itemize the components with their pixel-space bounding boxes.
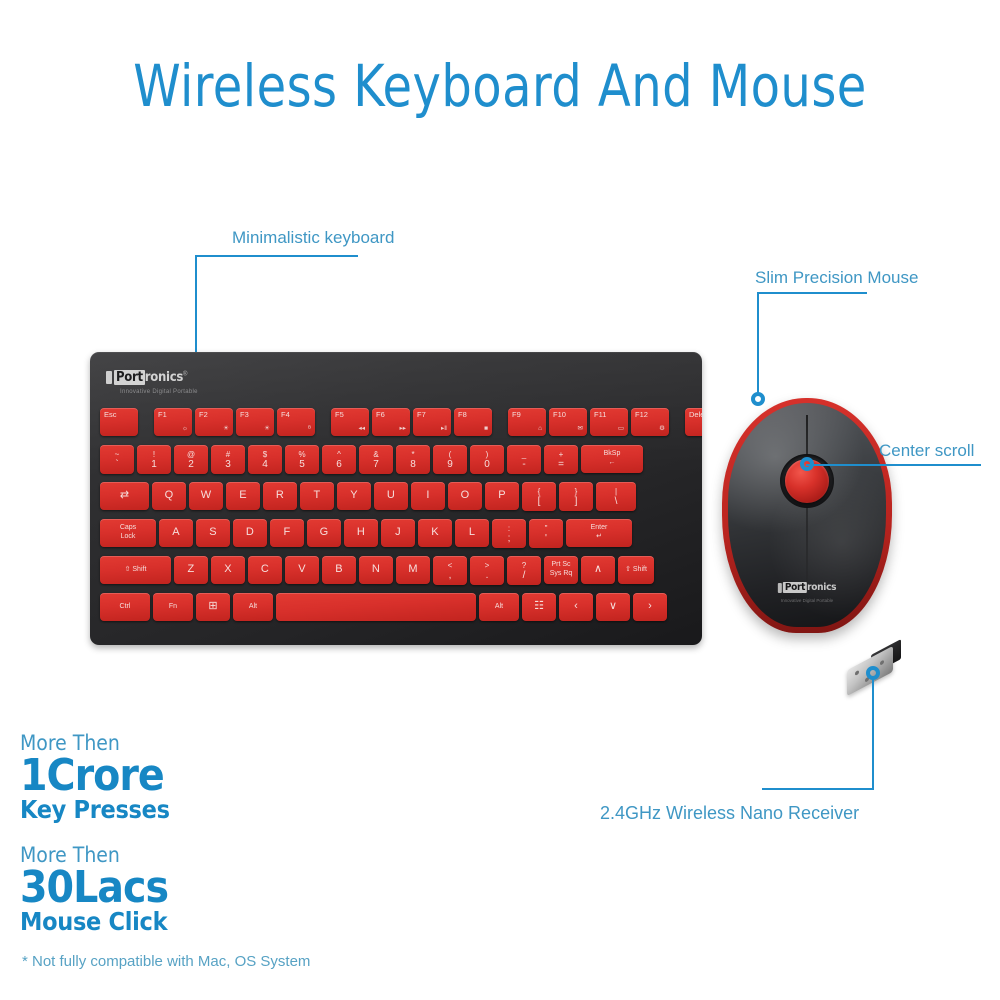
key-legend-top: * bbox=[411, 451, 414, 459]
key-s[interactable]: S bbox=[196, 519, 230, 547]
key-legend-line1: Enter bbox=[591, 524, 608, 533]
callout-label-receiver: 2.4GHz Wireless Nano Receiver bbox=[600, 803, 859, 824]
key-legend-bottom: \ bbox=[615, 497, 618, 507]
key-legend: F7 bbox=[417, 411, 426, 419]
key-legend: J bbox=[395, 527, 401, 539]
key-b[interactable]: B bbox=[322, 556, 356, 584]
leader-line-mouse-horizontal bbox=[757, 292, 867, 294]
key-legend: X bbox=[224, 564, 232, 576]
key-legend: Esc bbox=[104, 411, 117, 419]
key-0[interactable]: )0 bbox=[470, 445, 504, 474]
key-legend: F5 bbox=[335, 411, 344, 419]
key-legend: F8 bbox=[458, 411, 467, 419]
key-r[interactable]: R bbox=[263, 482, 297, 510]
key-legend: U bbox=[387, 490, 395, 502]
brand-tagline: Innovative Digital Portable bbox=[120, 389, 198, 395]
key-blank[interactable]: ⇄ bbox=[100, 482, 149, 510]
key-x[interactable]: X bbox=[211, 556, 245, 584]
key-legend-top: < bbox=[448, 562, 453, 570]
keyboard-row-shift-row: ⇧ ShiftZXCVBNM<,>.?/Prt ScSys Rq∧⇧ Shift bbox=[100, 556, 654, 585]
key-f5[interactable]: F5◂◂ bbox=[331, 408, 369, 436]
key-blank[interactable]: ‹ bbox=[559, 593, 593, 621]
key-g[interactable]: G bbox=[307, 519, 341, 547]
brand-name-part2: ronics bbox=[145, 370, 183, 385]
key-legend-bottom: 5 bbox=[299, 460, 305, 470]
key-d[interactable]: D bbox=[233, 519, 267, 547]
key-alt[interactable]: Alt bbox=[233, 593, 273, 621]
keyboard-device[interactable]: Portronics® Innovative Digital Portable … bbox=[90, 352, 702, 645]
key-f9[interactable]: F9⌂ bbox=[508, 408, 546, 436]
key-bksp[interactable]: BkSp← bbox=[581, 445, 643, 473]
key-legend: ⇧ Shift bbox=[125, 566, 147, 573]
key-9[interactable]: (9 bbox=[433, 445, 467, 474]
key-legend-bottom: / bbox=[523, 571, 526, 581]
key-spacer bbox=[495, 408, 505, 436]
fn-media-icon: ☼ bbox=[182, 426, 188, 433]
key-legend: F12 bbox=[635, 411, 648, 419]
key-glyph-icon: ☷ bbox=[534, 601, 544, 613]
mouse-brand-name-part2: ronics bbox=[807, 582, 836, 593]
key-legend-top: ( bbox=[449, 451, 452, 459]
leader-line-keyboard-horizontal bbox=[195, 255, 358, 257]
key-blank[interactable]: }] bbox=[559, 482, 593, 511]
key-legend: S bbox=[209, 527, 217, 539]
key-o[interactable]: O bbox=[448, 482, 482, 510]
key-spacer bbox=[672, 408, 682, 436]
mouse-brand-mark-icon bbox=[778, 583, 782, 593]
key-legend-bottom: [ bbox=[538, 497, 541, 507]
key-legend: B bbox=[335, 564, 343, 576]
key-legend-top: ~ bbox=[115, 451, 120, 459]
key-legend-bottom: , bbox=[449, 571, 452, 581]
key-legend-top: { bbox=[538, 488, 541, 496]
key-space[interactable] bbox=[276, 593, 476, 621]
key-a[interactable]: A bbox=[159, 519, 193, 547]
key-caps[interactable]: CapsLock bbox=[100, 519, 156, 547]
key-shift[interactable]: ⇧ Shift bbox=[618, 556, 654, 584]
key-legend: L bbox=[469, 527, 475, 539]
key-legend: F10 bbox=[553, 411, 566, 419]
key-legend: Fn bbox=[169, 603, 177, 610]
key-legend: T bbox=[314, 490, 321, 502]
key-legend-top: " bbox=[545, 525, 548, 533]
key-f10[interactable]: F10✉ bbox=[549, 408, 587, 436]
key-legend-line1: Prt Sc bbox=[551, 561, 570, 570]
key-legend: H bbox=[357, 527, 365, 539]
key-l[interactable]: L bbox=[455, 519, 489, 547]
key-glyph-icon: ∨ bbox=[609, 601, 617, 613]
key-legend-line1: Caps bbox=[120, 524, 136, 533]
key-legend-bottom: ] bbox=[575, 497, 578, 507]
key-legend: V bbox=[298, 564, 306, 576]
key-legend-top: ^ bbox=[337, 451, 341, 459]
key-legend: C bbox=[261, 564, 269, 576]
stat-block-key-presses: More Then 1Crore Key Presses bbox=[20, 733, 170, 823]
key-legend: Z bbox=[188, 564, 195, 576]
key-legend-top: % bbox=[298, 451, 305, 459]
key-blank[interactable]: ∨ bbox=[596, 593, 630, 621]
key-blank[interactable]: ~` bbox=[100, 445, 134, 474]
key-alt[interactable]: Alt bbox=[479, 593, 519, 621]
key-delete[interactable]: Delete bbox=[685, 408, 702, 436]
fn-media-icon: ◂◂ bbox=[358, 426, 365, 433]
key-f11[interactable]: F11▭ bbox=[590, 408, 628, 436]
key-legend-bottom: 6 bbox=[336, 460, 342, 470]
key-spacer bbox=[318, 408, 328, 436]
page-title: Wireless Keyboard And Mouse bbox=[40, 52, 960, 120]
key-f1[interactable]: F1☼ bbox=[154, 408, 192, 436]
key-legend-bottom: ; bbox=[508, 534, 511, 544]
key-esc[interactable]: Esc bbox=[100, 408, 138, 436]
key-legend: G bbox=[320, 527, 329, 539]
key-f3[interactable]: F3☀ bbox=[236, 408, 274, 436]
key-blank[interactable]: |\ bbox=[596, 482, 636, 511]
key-blank[interactable]: "' bbox=[529, 519, 563, 548]
fn-media-icon: ⚙ bbox=[659, 426, 665, 433]
key-legend: O bbox=[461, 490, 470, 502]
key-legend-top: & bbox=[373, 451, 378, 459]
key-legend: A bbox=[172, 527, 180, 539]
key-blank[interactable]: ?/ bbox=[507, 556, 541, 585]
key-legend: N bbox=[372, 564, 380, 576]
key-f12[interactable]: F12⚙ bbox=[631, 408, 669, 436]
key-legend-top: ! bbox=[153, 451, 155, 459]
key-legend: Alt bbox=[495, 603, 503, 610]
key-enter[interactable]: Enter↵ bbox=[566, 519, 632, 547]
key-legend: ⇧ Shift bbox=[625, 566, 647, 573]
key-blank[interactable]: ⊞ bbox=[196, 593, 230, 621]
key-legend: Q bbox=[165, 490, 174, 502]
key-legend-top: # bbox=[226, 451, 230, 459]
key-legend: R bbox=[276, 490, 284, 502]
key-legend: E bbox=[239, 490, 247, 502]
key-legend-top: $ bbox=[263, 451, 267, 459]
key-legend-line2: ↵ bbox=[596, 533, 602, 542]
callout-label-scroll: Center scroll bbox=[879, 441, 974, 461]
keyboard-row-function-row: EscF1☼F2☀F3☀F4ᴮF5◂◂F6▸▸F7▸‖F8■F9⌂F10✉F11… bbox=[100, 408, 702, 436]
infographic-canvas: Wireless Keyboard And Mouse Minimalistic… bbox=[0, 0, 1000, 1000]
key-4[interactable]: $4 bbox=[248, 445, 282, 474]
key-legend: F4 bbox=[281, 411, 290, 419]
callout-label-keyboard: Minimalistic keyboard bbox=[232, 228, 395, 248]
footnote-text: * Not fully compatible with Mac, OS Syst… bbox=[22, 953, 310, 970]
key-legend-bottom: ` bbox=[115, 460, 118, 470]
stat-caption: Mouse Click bbox=[20, 909, 168, 935]
key-legend: K bbox=[431, 527, 439, 539]
key-legend-bottom: 9 bbox=[447, 460, 453, 470]
key-c[interactable]: C bbox=[248, 556, 282, 584]
mouse-device[interactable]: Portronics Innovative Digital Portable bbox=[722, 398, 892, 633]
keyboard-row-number-row: ~`!1@2#3$4%5^6&7*8(9)0_-+=BkSp← bbox=[100, 445, 643, 474]
usb-detail-dot-2 bbox=[880, 660, 884, 666]
key-blank[interactable]: _- bbox=[507, 445, 541, 474]
key-i[interactable]: I bbox=[411, 482, 445, 510]
key-f4[interactable]: F4ᴮ bbox=[277, 408, 315, 436]
key-legend: F2 bbox=[199, 411, 208, 419]
key-legend: Y bbox=[350, 490, 358, 502]
key-legend-top: : bbox=[508, 525, 510, 533]
key-legend-bottom: 2 bbox=[188, 460, 194, 470]
key-glyph-icon: ⊞ bbox=[208, 601, 217, 613]
key-legend-top: } bbox=[575, 488, 578, 496]
key-3[interactable]: #3 bbox=[211, 445, 245, 474]
key-legend-bottom: 3 bbox=[225, 460, 231, 470]
key-legend-bottom: 1 bbox=[151, 460, 157, 470]
key-legend-top: _ bbox=[522, 451, 526, 459]
key-legend-line2: Lock bbox=[121, 533, 136, 542]
key-glyph-icon: › bbox=[648, 601, 652, 613]
key-spacer bbox=[141, 408, 151, 436]
key-legend: D bbox=[246, 527, 254, 539]
stat-value: 30Lacs bbox=[20, 867, 168, 909]
key-fn[interactable]: Fn bbox=[153, 593, 193, 621]
key-legend-bottom: ' bbox=[545, 534, 547, 544]
stat-block-mouse-clicks: More Then 30Lacs Mouse Click bbox=[20, 845, 168, 935]
stat-caption: Key Presses bbox=[20, 797, 170, 823]
key-legend: Ctrl bbox=[120, 603, 131, 610]
leader-line-keyboard-vertical bbox=[195, 255, 197, 365]
key-y[interactable]: Y bbox=[337, 482, 371, 510]
key-legend: F bbox=[284, 527, 291, 539]
key-q[interactable]: Q bbox=[152, 482, 186, 510]
keyboard-row-qwerty-row: ⇄QWERTYUIOP{[}]|\ bbox=[100, 482, 636, 511]
key-legend: F11 bbox=[594, 411, 606, 419]
key-legend: I bbox=[426, 490, 429, 502]
key-e[interactable]: E bbox=[226, 482, 260, 510]
fn-media-icon: ☀ bbox=[264, 426, 270, 433]
key-legend-line2: Sys Rq bbox=[550, 570, 573, 579]
key-legend-top: + bbox=[559, 451, 564, 459]
key-shift[interactable]: ⇧ Shift bbox=[100, 556, 171, 584]
brand-registered-mark: ® bbox=[183, 372, 187, 378]
key-blank[interactable]: <, bbox=[433, 556, 467, 585]
key-z[interactable]: Z bbox=[174, 556, 208, 584]
key-legend-line2: ← bbox=[609, 459, 616, 468]
key-legend-bottom: 0 bbox=[484, 460, 490, 470]
key-legend-line1: BkSp bbox=[604, 450, 621, 459]
fn-media-icon: ᴮ bbox=[308, 426, 311, 433]
usb-detail-dot-1 bbox=[855, 670, 859, 676]
key-legend: Alt bbox=[249, 603, 257, 610]
key-h[interactable]: H bbox=[344, 519, 378, 547]
key-legend: F3 bbox=[240, 411, 249, 419]
key-f8[interactable]: F8■ bbox=[454, 408, 492, 436]
keyboard-brand-logo: Portronics® Innovative Digital Portable bbox=[106, 369, 198, 395]
key-glyph-icon: ‹ bbox=[574, 601, 578, 613]
key-legend-bottom: . bbox=[486, 571, 489, 581]
key-legend: F6 bbox=[376, 411, 385, 419]
key-blank[interactable]: += bbox=[544, 445, 578, 474]
key-glyph-icon: ⇄ bbox=[120, 490, 129, 502]
leader-line-receiver-horizontal bbox=[762, 788, 874, 790]
key-t[interactable]: T bbox=[300, 482, 334, 510]
key-f6[interactable]: F6▸▸ bbox=[372, 408, 410, 436]
fn-media-icon: ⌂ bbox=[538, 426, 542, 433]
fn-media-icon: ☀ bbox=[223, 426, 229, 433]
key-f7[interactable]: F7▸‖ bbox=[413, 408, 451, 436]
brand-name-part1: Port bbox=[114, 370, 145, 385]
key-legend-top: @ bbox=[187, 451, 195, 459]
key-ctrl[interactable]: Ctrl bbox=[100, 593, 150, 621]
key-f[interactable]: F bbox=[270, 519, 304, 547]
key-n[interactable]: N bbox=[359, 556, 393, 584]
key-blank[interactable]: {[ bbox=[522, 482, 556, 511]
key-f2[interactable]: F2☀ bbox=[195, 408, 233, 436]
keyboard-row-bottom-row: CtrlFn⊞AltAlt☷‹∨› bbox=[100, 593, 667, 621]
key-prt-sc[interactable]: Prt ScSys Rq bbox=[544, 556, 578, 584]
key-blank[interactable]: :; bbox=[492, 519, 526, 548]
fn-media-icon: ✉ bbox=[578, 426, 583, 433]
key-1[interactable]: !1 bbox=[137, 445, 171, 474]
callout-label-mouse: Slim Precision Mouse bbox=[755, 268, 918, 288]
stat-value: 1Crore bbox=[20, 755, 170, 797]
key-legend-bottom: 4 bbox=[262, 460, 268, 470]
leader-line-scroll-horizontal bbox=[806, 464, 981, 466]
key-blank[interactable]: ☷ bbox=[522, 593, 556, 621]
key-8[interactable]: *8 bbox=[396, 445, 430, 474]
key-legend-top: ? bbox=[522, 562, 526, 570]
key-legend-top: > bbox=[485, 562, 490, 570]
key-legend: W bbox=[201, 490, 212, 502]
key-blank[interactable]: >. bbox=[470, 556, 504, 585]
key-legend-bottom: 7 bbox=[373, 460, 379, 470]
key-p[interactable]: P bbox=[485, 482, 519, 510]
brand-mark-icon bbox=[106, 371, 112, 384]
marker-ring-scroll bbox=[800, 457, 814, 471]
key-legend-bottom: = bbox=[558, 460, 564, 470]
leader-line-receiver-vertical bbox=[872, 678, 874, 788]
key-legend-top: | bbox=[615, 488, 617, 496]
fn-media-icon: ▸‖ bbox=[441, 426, 447, 433]
key-legend: F9 bbox=[512, 411, 521, 419]
fn-media-icon: ▸▸ bbox=[399, 426, 406, 433]
keyboard-row-home-row: CapsLockASDFGHJKL:;"'Enter↵ bbox=[100, 519, 632, 548]
key-legend: M bbox=[408, 564, 417, 576]
key-6[interactable]: ^6 bbox=[322, 445, 356, 474]
key-glyph-icon: ∧ bbox=[594, 564, 602, 576]
fn-media-icon: ■ bbox=[484, 426, 488, 433]
mouse-brand-tagline: Innovative Digital Portable bbox=[778, 598, 836, 603]
key-k[interactable]: K bbox=[418, 519, 452, 547]
leader-line-mouse-vertical bbox=[757, 292, 759, 396]
key-u[interactable]: U bbox=[374, 482, 408, 510]
key-w[interactable]: W bbox=[189, 482, 223, 510]
key-7[interactable]: &7 bbox=[359, 445, 393, 474]
key-legend-bottom: 8 bbox=[410, 460, 416, 470]
fn-media-icon: ▭ bbox=[618, 426, 624, 433]
key-legend-bottom: - bbox=[522, 460, 525, 470]
mouse-brand-logo: Portronics Innovative Digital Portable bbox=[778, 579, 836, 603]
key-blank[interactable]: › bbox=[633, 593, 667, 621]
key-blank[interactable]: ∧ bbox=[581, 556, 615, 584]
key-legend: Delete bbox=[689, 411, 702, 419]
key-m[interactable]: M bbox=[396, 556, 430, 584]
key-legend: F1 bbox=[158, 411, 167, 419]
key-5[interactable]: %5 bbox=[285, 445, 319, 474]
key-j[interactable]: J bbox=[381, 519, 415, 547]
key-v[interactable]: V bbox=[285, 556, 319, 584]
key-2[interactable]: @2 bbox=[174, 445, 208, 474]
key-legend: P bbox=[498, 490, 506, 502]
mouse-brand-name-part1: Port bbox=[783, 582, 807, 593]
key-legend-top: ) bbox=[486, 451, 489, 459]
